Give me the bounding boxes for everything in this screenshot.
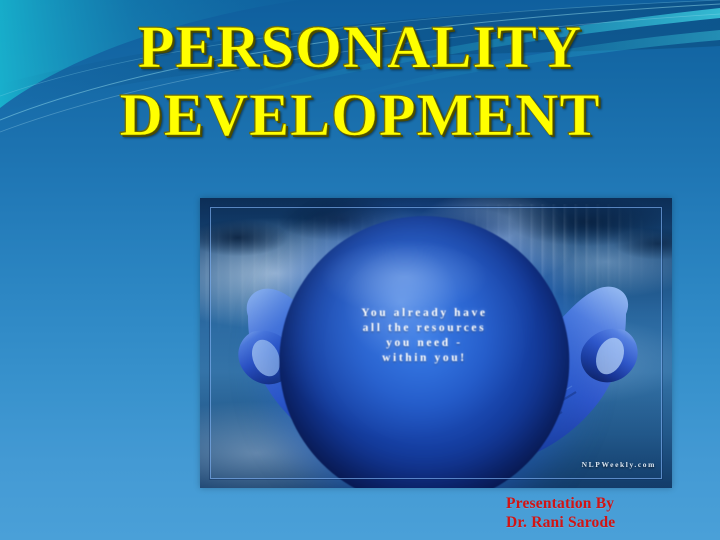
sphere-quote-text: You already have all the resources you n… (279, 306, 569, 366)
credit-line-one: Presentation By (506, 494, 615, 513)
credit-line-two: Dr. Rani Sarode (506, 513, 615, 532)
glowing-sphere: You already have all the resources you n… (279, 216, 569, 488)
presentation-slide: PERSONALITY DEVELOPMENT (0, 0, 720, 540)
title-line-one: PERSONALITY (0, 14, 720, 80)
slide-image: You already have all the resources you n… (200, 198, 672, 488)
title-line-two: DEVELOPMENT (0, 82, 720, 148)
image-watermark: NLPWeekly.com (582, 460, 656, 469)
slide-title: PERSONALITY DEVELOPMENT (0, 14, 720, 148)
presenter-credit: Presentation By Dr. Rani Sarode (506, 494, 615, 532)
